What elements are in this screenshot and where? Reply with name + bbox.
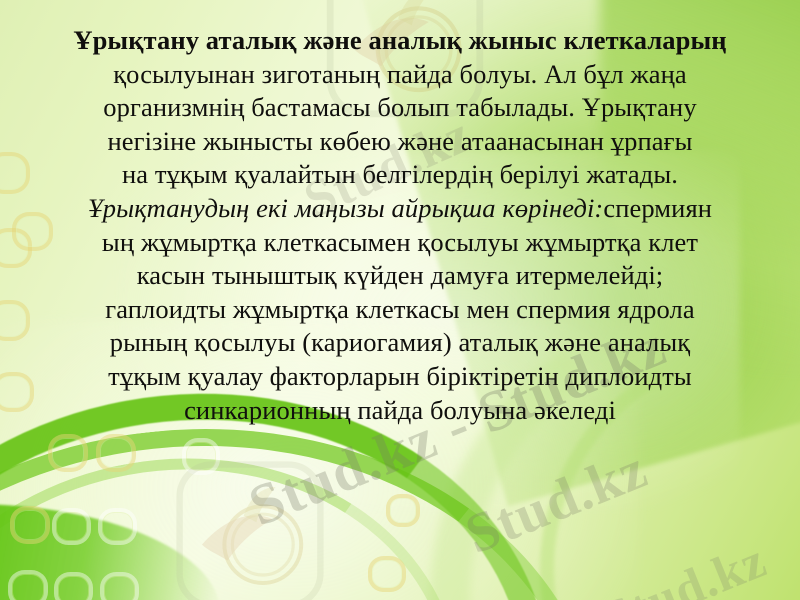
presentation-slide: Stud.kz Stud.kz - Stud.kz Stud.kz Stud.k… [0,0,800,600]
text-line: касын тыныштық күйден дамуға итермелейді… [28,259,772,293]
text-line: қосылуынан зиготаның пайда болуы. Ал бұл… [28,58,772,92]
text-lead-bold: Ұрықтану аталық және аналық жыныс клетка… [73,25,726,55]
text-line: синкарионның пайда болуына әкеледі [28,394,772,428]
text-line: ың жұмыртқа клеткасымен қосылуы жұмыртқа… [28,226,772,260]
text-line: рының қосылуы (кариогамия) аталық және а… [28,326,772,360]
text-line: тұқым қуалау факторларын біріктіретін ди… [28,360,772,394]
text-line: на тұқым қуалайтын белгілердің берілуі ж… [28,158,772,192]
text-line: организмнің бастамасы болып табылады. Ұр… [28,91,772,125]
text-line: Ұрықтану аталық және аналық жыныс клетка… [28,24,772,58]
text-line: гаплоидты жұмыртқа клеткасы мен спермия … [28,293,772,327]
text-regular-segment: спермиян [603,193,712,223]
text-line: негізіне жынысты көбею және атаанасынан … [28,125,772,159]
text-line-italic-mixed: Ұрықтанудың екі маңызы айрықша көрінеді:… [28,192,772,226]
text-italic-segment: Ұрықтанудың екі маңызы айрықша көрінеді: [88,193,603,223]
slide-body-text: Ұрықтану аталық және аналық жыныс клетка… [28,24,772,427]
